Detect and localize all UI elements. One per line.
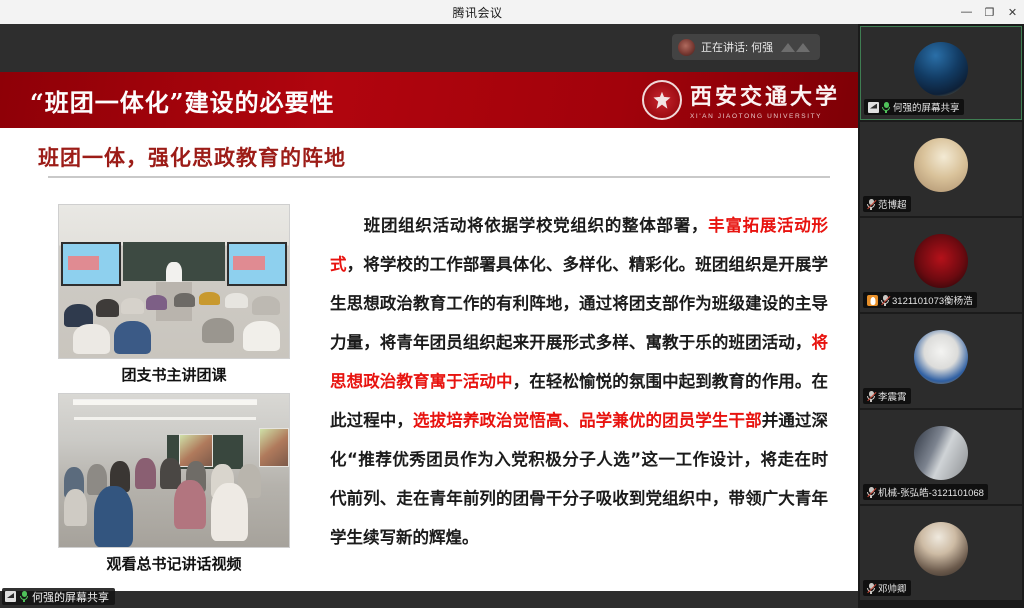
- slide-title-banner: “班团一体化”建设的必要性 西安交通大学 XI'AN JIAOTONG UNIV…: [0, 72, 858, 128]
- screen-share-icon: [868, 102, 879, 113]
- window-controls: — ❐ ✕: [955, 0, 1024, 24]
- participant-label: 范博超: [863, 196, 911, 212]
- microphone-muted-icon: [881, 295, 889, 306]
- body-seg-3: ，将学校的工作部署具体化、多样化、精彩化。班团组织是开展学生思想政治教育工作的有…: [330, 255, 828, 352]
- microphone-on-icon: [882, 102, 890, 113]
- university-logo: 西安交通大学 XI'AN JIAOTONG UNIVERSITY: [642, 79, 840, 120]
- screen-share-label: 何强的屏幕共享: [32, 589, 109, 605]
- slide-title: “班团一体化”建设的必要性: [30, 83, 335, 118]
- body-seg-6-highlight: 选拔培养政治觉悟高、品学兼优的团员学生干部: [413, 411, 762, 430]
- photo-caption-2: 观看总书记讲话视频: [58, 548, 290, 582]
- participant-name: 范博超: [878, 197, 907, 211]
- avatar: [914, 138, 968, 192]
- stage-bottom-strip: [0, 591, 858, 608]
- audio-wave-icon: [781, 43, 810, 52]
- microphone-muted-icon: [867, 199, 875, 210]
- participant-tile-0[interactable]: 何强的屏幕共享: [860, 26, 1022, 120]
- restore-button[interactable]: ❐: [978, 0, 1001, 24]
- participant-name: 3121101073衡杨浩: [892, 293, 973, 307]
- window-titlebar: 腾讯会议 — ❐ ✕: [0, 0, 1024, 24]
- avatar: [914, 522, 968, 576]
- participant-tile-2[interactable]: 3121101073衡杨浩: [860, 218, 1022, 312]
- window-title: 腾讯会议: [0, 4, 955, 21]
- participant-label: 邓帅卿: [863, 580, 911, 596]
- university-seal-icon: [642, 80, 682, 120]
- shared-screen-stage: 正在讲话: 何强 “班团一体化”建设的必要性 西安交通大学 XI'AN JIAO…: [0, 24, 858, 608]
- microphone-muted-icon: [867, 391, 875, 402]
- microphone-muted-icon: [867, 487, 875, 498]
- speaker-label: 正在讲话: 何强: [701, 39, 773, 55]
- participant-label: 何强的屏幕共享: [864, 99, 964, 115]
- host-icon: [867, 295, 878, 306]
- avatar: [914, 426, 968, 480]
- participant-name: 何强的屏幕共享: [893, 100, 960, 114]
- minimize-button[interactable]: —: [955, 0, 978, 24]
- participant-name: 李震霄: [878, 389, 907, 403]
- participant-label: 李震霄: [863, 388, 911, 404]
- classroom-lecture-photo: [58, 204, 290, 359]
- university-name-cn: 西安交通大学: [690, 79, 840, 111]
- participant-label: 机械-张弘皓-3121101068: [863, 484, 988, 500]
- subtitle-divider: [48, 176, 830, 178]
- participant-name: 机械-张弘皓-3121101068: [878, 485, 984, 499]
- body-seg-1: 班团组织活动将依据学校党组织的整体部署，: [363, 216, 708, 235]
- participant-label: 3121101073衡杨浩: [863, 292, 977, 308]
- microphone-on-icon: [20, 591, 28, 602]
- active-speaker-indicator: 正在讲话: 何强: [672, 34, 820, 60]
- presentation-slide: “班团一体化”建设的必要性 西安交通大学 XI'AN JIAOTONG UNIV…: [0, 72, 858, 591]
- speaker-avatar: [678, 39, 695, 56]
- microphone-muted-icon: [867, 583, 875, 594]
- photo-audience: [59, 285, 289, 358]
- photo-caption-1: 团支书主讲团课: [58, 359, 290, 393]
- participant-tile-1[interactable]: 范博超: [860, 122, 1022, 216]
- avatar: [914, 234, 968, 288]
- participant-rail[interactable]: 何强的屏幕共享 范博超 3121101073衡杨浩 李震霄: [858, 24, 1024, 608]
- screen-share-banner: 何强的屏幕共享: [2, 588, 115, 605]
- slide-photo-column: 团支书主讲团课 观看总: [58, 204, 290, 582]
- participant-name: 邓帅卿: [878, 581, 907, 595]
- slide-subtitle: 班团一体，强化思政教育的阵地: [38, 142, 346, 172]
- participant-tile-4[interactable]: 机械-张弘皓-3121101068: [860, 410, 1022, 504]
- close-button[interactable]: ✕: [1001, 0, 1024, 24]
- participant-tile-5[interactable]: 邓帅卿: [860, 506, 1022, 600]
- participant-tile-3[interactable]: 李震霄: [860, 314, 1022, 408]
- avatar: [914, 42, 968, 96]
- screen-share-icon: [5, 591, 16, 602]
- slide-body-text: 班团组织活动将依据学校党组织的整体部署，丰富拓展活动形式，将学校的工作部署具体化…: [330, 206, 828, 557]
- avatar: [914, 330, 968, 384]
- classroom-video-watching-photo: [58, 393, 290, 548]
- university-name-en: XI'AN JIAOTONG UNIVERSITY: [690, 113, 840, 120]
- body-seg-7: 并通过深化“推荐优秀团员作为入党积极分子人选”这一工作设计，将走在时代前列、走在…: [330, 411, 828, 547]
